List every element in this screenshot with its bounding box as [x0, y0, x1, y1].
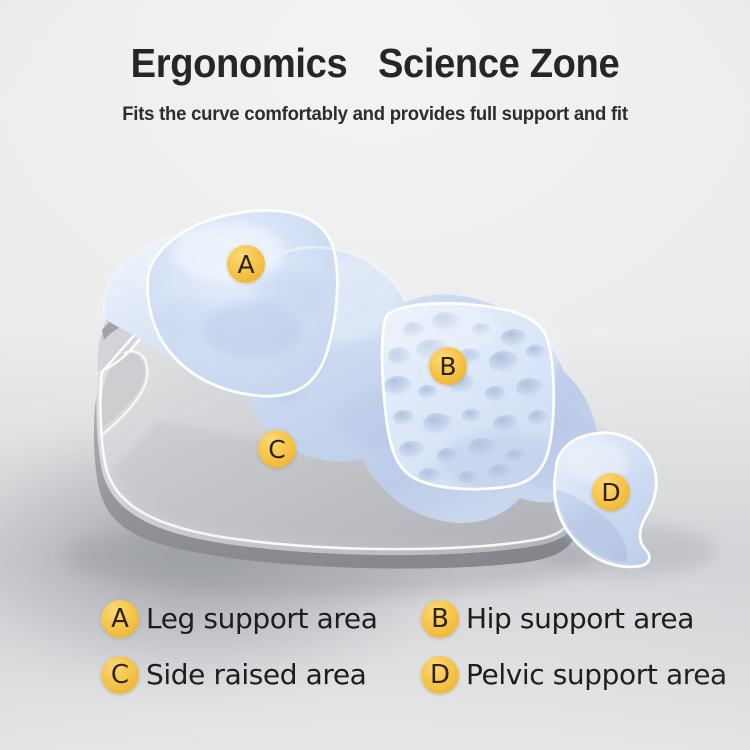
legend-item-a: A Leg support area [101, 600, 377, 638]
legend-badge-b-letter: B [431, 606, 449, 632]
zone-legend: A Leg support area B Hip support area C … [0, 600, 750, 720]
zone-marker-b-letter: B [439, 354, 456, 379]
zone-marker-d[interactable]: D [592, 473, 630, 511]
legend-item-c: C Side raised area [101, 656, 366, 694]
legend-label-b: Hip support area [466, 602, 694, 636]
legend-label-d: Pelvic support area [466, 658, 727, 692]
zone-marker-d-letter: D [601, 480, 620, 505]
zone-marker-b[interactable]: B [429, 347, 467, 385]
zone-marker-c-letter: C [268, 437, 285, 462]
legend-badge-c: C [101, 656, 139, 694]
legend-badge-c-letter: C [111, 662, 129, 688]
legend-badge-d: D [421, 656, 459, 694]
legend-badge-b: B [421, 600, 459, 638]
legend-badge-a: A [101, 600, 139, 638]
infographic-canvas: Ergonomics Science Zone Fits the curve c… [0, 0, 750, 750]
legend-badge-a-letter: A [111, 606, 129, 632]
zone-marker-a-letter: A [237, 252, 254, 277]
zone-marker-c[interactable]: C [258, 430, 296, 468]
legend-label-a: Leg support area [146, 602, 377, 636]
zone-marker-a[interactable]: A [227, 245, 265, 283]
legend-item-b: B Hip support area [421, 600, 694, 638]
legend-item-d: D Pelvic support area [421, 656, 727, 694]
legend-badge-d-letter: D [430, 662, 450, 688]
legend-label-c: Side raised area [146, 658, 366, 692]
